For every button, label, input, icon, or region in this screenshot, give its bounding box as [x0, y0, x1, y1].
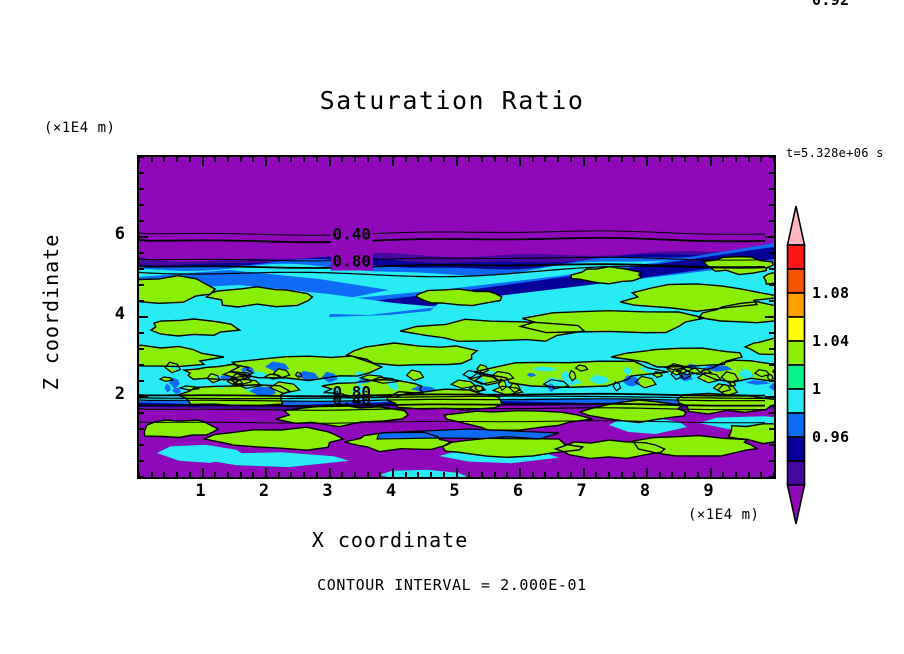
x-minor-tick [278, 472, 280, 477]
y-minor-tick [769, 428, 774, 430]
contour-field [139, 157, 774, 477]
x-minor-tick [595, 157, 597, 162]
x-minor-tick [608, 157, 610, 162]
y-minor-tick [139, 284, 144, 286]
y-minor-tick [769, 284, 774, 286]
y-tick-label: 2 [95, 384, 125, 404]
x-minor-tick [430, 472, 432, 477]
contour-line-label: 0.80 [330, 251, 373, 270]
x-minor-tick [544, 472, 546, 477]
x-major-tick [710, 468, 712, 477]
y-axis-units-label: (×1E4 m) [44, 120, 115, 136]
y-minor-tick [139, 332, 144, 334]
x-minor-tick [316, 472, 318, 477]
y-minor-tick [769, 268, 774, 270]
x-minor-tick [341, 157, 343, 162]
x-minor-tick [595, 472, 597, 477]
x-minor-tick [621, 157, 623, 162]
y-minor-tick [139, 444, 144, 446]
x-major-tick [583, 157, 585, 166]
x-major-tick [392, 157, 394, 166]
x-major-tick [329, 468, 331, 477]
x-minor-tick [633, 157, 635, 162]
x-minor-tick [671, 157, 673, 162]
x-tick-label: 3 [308, 481, 348, 501]
x-minor-tick [684, 472, 686, 477]
x-tick-label: 5 [435, 481, 475, 501]
x-tick-label: 1 [181, 481, 221, 501]
x-minor-tick [303, 472, 305, 477]
colorbar-tick-label: 1.08 [812, 284, 849, 302]
x-minor-tick [367, 157, 369, 162]
x-minor-tick [227, 157, 229, 162]
x-minor-tick [735, 157, 737, 162]
x-minor-tick [176, 157, 178, 162]
y-minor-tick [139, 172, 144, 174]
x-minor-tick [379, 472, 381, 477]
x-minor-tick [430, 157, 432, 162]
x-minor-tick [570, 157, 572, 162]
x-minor-tick [354, 472, 356, 477]
y-minor-tick [769, 300, 774, 302]
y-major-tick [139, 316, 148, 318]
x-minor-tick [748, 472, 750, 477]
y-minor-tick [139, 268, 144, 270]
x-minor-tick [532, 472, 534, 477]
x-minor-tick [151, 157, 153, 162]
y-minor-tick [769, 188, 774, 190]
x-major-tick [710, 157, 712, 166]
y-minor-tick [139, 188, 144, 190]
x-minor-tick [290, 157, 292, 162]
y-minor-tick [769, 364, 774, 366]
x-minor-tick [557, 157, 559, 162]
x-minor-tick [189, 472, 191, 477]
y-minor-tick [139, 252, 144, 254]
x-minor-tick [227, 472, 229, 477]
x-minor-tick [278, 157, 280, 162]
x-major-tick [456, 157, 458, 166]
y-minor-tick [139, 156, 144, 158]
x-minor-tick [481, 157, 483, 162]
contour-plot-area: 0.400.800.800.40 [137, 155, 776, 479]
x-tick-label: 7 [562, 481, 602, 501]
y-minor-tick [769, 332, 774, 334]
x-minor-tick [544, 157, 546, 162]
x-minor-tick [214, 472, 216, 477]
x-minor-tick [506, 157, 508, 162]
contour-interval-note: CONTOUR INTERVAL = 2.000E-01 [0, 576, 904, 594]
y-minor-tick [769, 348, 774, 350]
x-minor-tick [163, 472, 165, 477]
x-tick-label: 8 [625, 481, 665, 501]
x-minor-tick [443, 472, 445, 477]
x-minor-tick [684, 157, 686, 162]
y-minor-tick [139, 476, 144, 478]
x-minor-tick [697, 472, 699, 477]
x-minor-tick [379, 157, 381, 162]
x-minor-tick [214, 157, 216, 162]
x-minor-tick [633, 472, 635, 477]
y-minor-tick [139, 204, 144, 206]
y-minor-tick [139, 220, 144, 222]
x-minor-tick [417, 157, 419, 162]
y-minor-tick [139, 460, 144, 462]
y-minor-tick [769, 172, 774, 174]
y-minor-tick [139, 380, 144, 382]
x-minor-tick [417, 472, 419, 477]
contour-line-label: 0.40 [330, 225, 373, 244]
x-tick-label: 2 [244, 481, 284, 501]
x-minor-tick [570, 472, 572, 477]
x-minor-tick [557, 472, 559, 477]
x-axis-title: X coordinate [0, 528, 780, 552]
x-tick-label: 9 [689, 481, 729, 501]
x-minor-tick [697, 157, 699, 162]
x-major-tick [646, 468, 648, 477]
x-minor-tick [608, 472, 610, 477]
y-minor-tick [769, 460, 774, 462]
y-major-tick [139, 396, 148, 398]
x-major-tick [202, 468, 204, 477]
y-minor-tick [769, 156, 774, 158]
x-minor-tick [621, 472, 623, 477]
x-minor-tick [532, 157, 534, 162]
x-minor-tick [341, 472, 343, 477]
contour-line-label: 0.40 [330, 390, 373, 409]
y-tick-label: 4 [95, 304, 125, 324]
x-minor-tick [494, 157, 496, 162]
y-minor-tick [769, 412, 774, 414]
x-minor-tick [748, 157, 750, 162]
x-minor-tick [468, 157, 470, 162]
colorbar-tick-label: 0.96 [812, 428, 849, 446]
x-major-tick [519, 468, 521, 477]
x-major-tick [583, 468, 585, 477]
y-major-tick [765, 396, 774, 398]
y-minor-tick [769, 444, 774, 446]
colorbar [784, 205, 808, 525]
x-minor-tick [252, 157, 254, 162]
y-minor-tick [139, 428, 144, 430]
x-minor-tick [659, 472, 661, 477]
x-minor-tick [659, 157, 661, 162]
y-major-tick [139, 236, 148, 238]
colorbar-tick-label: 1.04 [812, 332, 849, 350]
x-major-tick [265, 157, 267, 166]
x-minor-tick [506, 472, 508, 477]
x-minor-tick [760, 157, 762, 162]
y-major-tick [765, 316, 774, 318]
x-minor-tick [303, 157, 305, 162]
x-major-tick [392, 468, 394, 477]
x-minor-tick [405, 472, 407, 477]
x-minor-tick [240, 472, 242, 477]
x-minor-tick [189, 157, 191, 162]
page-title: Saturation Ratio [0, 86, 904, 115]
y-minor-tick [769, 252, 774, 254]
y-minor-tick [769, 220, 774, 222]
x-minor-tick [760, 472, 762, 477]
x-minor-tick [163, 157, 165, 162]
x-major-tick [329, 157, 331, 166]
y-minor-tick [769, 476, 774, 478]
x-tick-label: 4 [371, 481, 411, 501]
x-minor-tick [494, 472, 496, 477]
colorbar-tick-label: 0.92 [812, 0, 849, 9]
x-minor-tick [367, 472, 369, 477]
x-tick-label: 6 [498, 481, 538, 501]
y-minor-tick [139, 364, 144, 366]
colorbar-tick-label: 1 [812, 380, 821, 398]
y-minor-tick [139, 348, 144, 350]
x-major-tick [456, 468, 458, 477]
x-minor-tick [176, 472, 178, 477]
y-axis-title: Z coordinate [39, 222, 63, 402]
x-minor-tick [316, 157, 318, 162]
x-minor-tick [354, 157, 356, 162]
y-minor-tick [139, 300, 144, 302]
y-minor-tick [769, 380, 774, 382]
x-minor-tick [481, 472, 483, 477]
x-minor-tick [290, 472, 292, 477]
x-major-tick [519, 157, 521, 166]
x-major-tick [265, 468, 267, 477]
x-minor-tick [671, 472, 673, 477]
timestamp-annotation: t=5.328e+06 s [786, 146, 884, 160]
x-minor-tick [151, 472, 153, 477]
x-minor-tick [468, 472, 470, 477]
x-minor-tick [252, 472, 254, 477]
x-minor-tick [405, 157, 407, 162]
y-minor-tick [139, 412, 144, 414]
x-minor-tick [722, 157, 724, 162]
x-minor-tick [443, 157, 445, 162]
x-minor-tick [722, 472, 724, 477]
y-minor-tick [769, 204, 774, 206]
y-major-tick [765, 236, 774, 238]
x-minor-tick [240, 157, 242, 162]
x-major-tick [202, 157, 204, 166]
x-major-tick [646, 157, 648, 166]
x-axis-units-label: (×1E4 m) [688, 507, 759, 523]
y-tick-label: 6 [95, 224, 125, 244]
figure-canvas: Saturation Ratio (×1E4 m) t=5.328e+06 s … [0, 0, 904, 654]
x-minor-tick [735, 472, 737, 477]
